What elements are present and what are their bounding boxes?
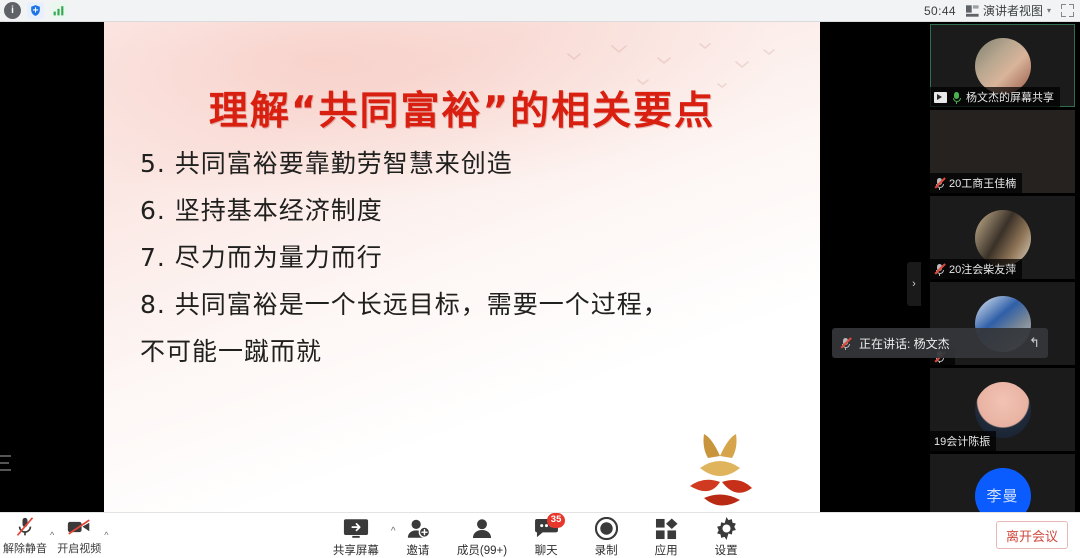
mic-muted-icon (934, 177, 945, 190)
share-options-chevron-icon[interactable]: ^ (391, 526, 396, 537)
screen-share-icon (343, 516, 369, 541)
signal-bars-icon[interactable] (50, 2, 67, 19)
speaking-toast: 正在讲话: 杨文杰 ↰ (832, 328, 1048, 358)
top-bar: i 50:44 (0, 0, 1080, 22)
participant-panel[interactable]: 杨文杰的屏幕共享 20工商王佳楠 20注会柴友萍 (925, 22, 1080, 512)
speaker-view-icon (966, 5, 979, 17)
share-screen-button[interactable]: 共享屏幕 ^ (333, 516, 379, 558)
slide-title: 理解“共同富裕”的相关要点 (104, 80, 820, 136)
participants-button[interactable]: 成员(99+) (457, 516, 507, 558)
left-edge-menu-icon[interactable] (0, 452, 12, 474)
chat-label: 聊天 (535, 542, 558, 558)
participant-tile[interactable]: 20工商王佳楠 (930, 110, 1075, 193)
gear-icon (715, 516, 738, 541)
chevron-down-icon[interactable]: ▾ (1047, 6, 1051, 15)
view-mode-label: 演讲者视图 (983, 2, 1043, 19)
main-toolbar: 共享屏幕 ^ 邀请 (0, 516, 1080, 558)
avatar (975, 382, 1031, 438)
person-icon (471, 516, 493, 541)
slide-bullet: 5. 共同富裕要靠勤劳智慧来创造 (140, 140, 790, 187)
record-button[interactable]: 录制 (585, 516, 627, 558)
slide-bullet: 7. 尽力而为量力而行 (140, 234, 790, 281)
participant-tile[interactable]: 杨文杰的屏幕共享 (930, 24, 1075, 107)
participant-name-bar: 杨文杰的屏幕共享 (930, 87, 1060, 107)
participant-tile[interactable]: 19会计陈振 (930, 368, 1075, 451)
avatar (975, 210, 1031, 266)
meeting-window: i 50:44 (0, 0, 1080, 558)
avatar (975, 38, 1031, 94)
top-bar-icons: i (0, 2, 67, 19)
top-bar-right: 50:44 演讲者视图 ▾ (924, 2, 1080, 19)
mic-muted-icon (840, 337, 851, 350)
invite-button[interactable]: 邀请 (397, 516, 439, 558)
screen-share-icon (934, 92, 947, 103)
slide-body: 5. 共同富裕要靠勤劳智慧来创造 6. 坚持基本经济制度 7. 尽力而为量力而行… (140, 140, 790, 375)
slide-bullet: 8. 共同富裕是一个长远目标，需要一个过程， 不可能一蹴而就 (140, 281, 790, 375)
share-screen-label: 共享屏幕 (333, 542, 379, 558)
apps-grid-icon (655, 516, 678, 541)
participant-name-bar: 20注会柴友萍 (930, 259, 1022, 279)
panel-collapse-button[interactable]: › (907, 262, 921, 306)
invite-label: 邀请 (406, 542, 429, 558)
apps-label: 应用 (655, 542, 678, 558)
participant-tile[interactable]: 20注会柴友萍 (930, 196, 1075, 279)
meeting-timer: 50:44 (924, 4, 956, 18)
participant-name: 20注会柴友萍 (949, 261, 1016, 277)
presentation-slide: 理解“共同富裕”的相关要点 5. 共同富裕要靠勤劳智慧来创造 6. 坚持基本经济… (104, 22, 820, 512)
add-person-icon (406, 516, 430, 541)
participant-name: 杨文杰的屏幕共享 (966, 89, 1054, 105)
participant-tile[interactable]: 李曼 (930, 454, 1075, 512)
participant-name: 20工商王佳楠 (949, 175, 1016, 191)
chat-button[interactable]: 35 聊天 (525, 516, 567, 558)
participant-name-bar: 20工商王佳楠 (930, 173, 1022, 193)
fullscreen-icon[interactable] (1061, 4, 1074, 17)
avatar: 李曼 (975, 468, 1031, 513)
bottom-toolbar: 解除静音 ^ 开启视频 ^ (0, 512, 1080, 558)
record-circle-icon (595, 516, 618, 541)
view-mode-selector[interactable]: 演讲者视图 ▾ (966, 2, 1051, 19)
speaking-toast-text: 正在讲话: 杨文杰 (859, 335, 950, 352)
participants-label: 成员(99+) (457, 542, 507, 558)
shield-icon[interactable] (27, 2, 44, 19)
avatar-initials: 李曼 (986, 485, 1018, 506)
participant-name-bar: 19会计陈振 (930, 431, 996, 451)
info-icon[interactable]: i (4, 2, 21, 19)
slide-bullet: 6. 坚持基本经济制度 (140, 187, 790, 234)
leave-meeting-button[interactable]: 离开会议 (996, 521, 1068, 549)
mic-on-icon (951, 91, 962, 104)
apps-button[interactable]: 应用 (645, 516, 687, 558)
record-label: 录制 (595, 542, 618, 558)
reply-arrow-icon[interactable]: ↰ (1029, 335, 1040, 351)
settings-button[interactable]: 设置 (705, 516, 747, 558)
lotus-ornament (660, 428, 780, 512)
mic-muted-icon (934, 263, 945, 276)
shared-screen-stage: 理解“共同富裕”的相关要点 5. 共同富裕要靠勤劳智慧来创造 6. 坚持基本经济… (0, 22, 925, 512)
chat-unread-badge: 35 (547, 513, 565, 528)
settings-label: 设置 (715, 542, 738, 558)
participant-name: 19会计陈振 (934, 433, 990, 449)
